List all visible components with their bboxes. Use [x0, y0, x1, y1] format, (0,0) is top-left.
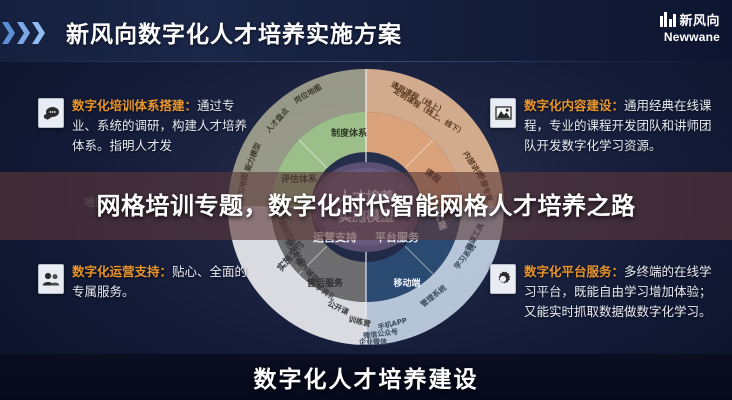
gear-icon [490, 264, 516, 294]
callout-text: 数字化运营支持：贴心、全面的专属服务。 [72, 262, 256, 302]
callout-heading: 数字化内容建设 [524, 98, 612, 113]
logo-text-en: Newwane [660, 30, 720, 44]
callout-training-system: 数字化培训体系搭建：通过专业、系统的调研，构建人才培养体系。指明人才发 [38, 96, 256, 156]
footer-title: 数字化人才培养建设 [254, 360, 479, 394]
chevron-right-icon-group [2, 22, 45, 44]
callout-heading: 数字化运营支持 [72, 264, 160, 279]
image-icon [490, 98, 516, 128]
speech-bubble-icon [38, 98, 64, 128]
header-bar: 新风向数字化人才培养实施方案 新风向 Newwane [0, 0, 732, 62]
chevron-right-icon [32, 22, 45, 44]
logo-text-cn: 新风向 [679, 10, 720, 29]
brand-logo: 新风向 Newwane [660, 10, 720, 44]
callout-text: 数字化内容建设：通用经典在线课程，专业的课程开发团队和讲师团队开发数字化学习资源… [524, 96, 720, 156]
page-title: 新风向数字化人才培养实施方案 [66, 15, 402, 49]
overlay-title-bar: 网格培训专题，数字化时代智能网格人才培养之路 [0, 172, 732, 240]
chevron-right-icon [2, 22, 15, 44]
callout-heading: 数字化培训体系搭建 [72, 98, 185, 113]
chevron-right-icon [17, 22, 30, 44]
overlay-title: 网格培训专题，数字化时代智能网格人才培养之路 [16, 191, 716, 221]
svg-text:移动端: 移动端 [393, 277, 420, 289]
callout-colon: ： [185, 98, 198, 113]
users-icon [38, 264, 64, 294]
callout-operation-support: 数字化运营支持：贴心、全面的专属服务。 [38, 262, 256, 302]
callout-text: 数字化培训体系搭建：通过专业、系统的调研，构建人才培养体系。指明人才发 [72, 96, 256, 156]
callout-colon: ： [612, 98, 625, 113]
callout-text: 数字化平台服务：多终端的在线学习平台，既能自由学习增加体验；又能实时抓取数据做数… [524, 262, 720, 322]
bars-logo-icon [660, 12, 677, 27]
callout-colon: ： [160, 264, 173, 279]
callout-platform-service: 数字化平台服务：多终端的在线学习平台，既能自由学习增加体验；又能实时抓取数据做数… [490, 262, 720, 322]
svg-text:企业微信: 企业微信 [358, 337, 387, 346]
callout-content-construction: 数字化内容建设：通用经典在线课程，专业的课程开发团队和讲师团队开发数字化学习资源… [490, 96, 720, 156]
footer-banner: 数字化人才培养建设 [0, 354, 732, 400]
svg-text:制度体系: 制度体系 [331, 127, 367, 139]
slide-canvas: 新风向数字化人才培养实施方案 新风向 Newwane [0, 0, 732, 400]
callout-heading: 数字化平台服务 [524, 264, 612, 279]
callout-colon: ： [612, 264, 625, 279]
